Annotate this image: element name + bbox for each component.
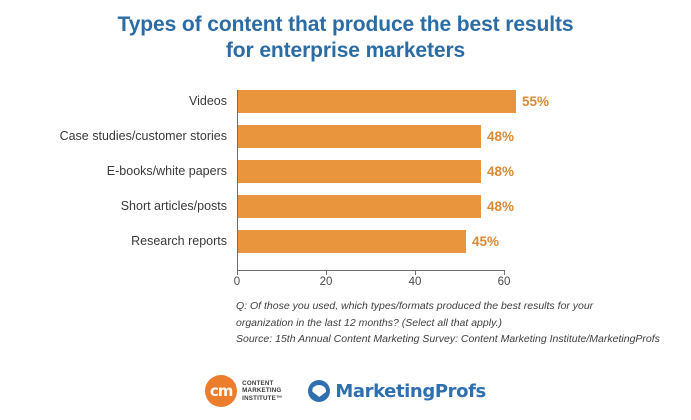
cmi-wordmark: CONTENT MARKETING INSTITUTE™: [242, 380, 282, 403]
bar-row: Videos 55%: [0, 90, 691, 113]
bar-row: Case studies/customer stories 48%: [0, 125, 691, 148]
chart-title-line-2: for enterprise marketers: [0, 38, 691, 64]
marketingprofs-wordmark: MarketingProfs: [335, 381, 486, 402]
bar-row: E-books/white papers 48%: [0, 160, 691, 183]
chart-title: Types of content that produce the best r…: [0, 12, 691, 64]
bar-value-label: 55%: [522, 90, 549, 113]
x-tick-mark: [237, 270, 238, 275]
footnote-question-line-1: Q: Of those you used, which types/format…: [236, 298, 686, 315]
x-tick-mark: [415, 270, 416, 275]
cmi-circle-icon: cm: [205, 375, 237, 407]
category-label: Short articles/posts: [0, 195, 227, 218]
footnote-source: Source: 15th Annual Content Marketing Su…: [236, 331, 686, 348]
logo-row: cm CONTENT MARKETING INSTITUTE™ Marketin…: [0, 370, 691, 412]
x-tick-mark: [326, 270, 327, 275]
bar-row: Short articles/posts 48%: [0, 195, 691, 218]
x-tick-mark: [504, 270, 505, 275]
x-tick-label: 20: [306, 276, 346, 288]
cmi-word-institute: INSTITUTE™: [242, 395, 282, 403]
category-label: Videos: [0, 90, 227, 113]
x-axis-ticks: 0 20 40 60: [0, 270, 691, 292]
bar-value-label: 48%: [487, 160, 514, 183]
chart-title-line-1: Types of content that produce the best r…: [0, 12, 691, 38]
marketingprofs-logo: MarketingProfs: [308, 380, 486, 402]
bar-videos: [238, 90, 516, 113]
bar-short-articles: [238, 195, 481, 218]
footnote: Q: Of those you used, which types/format…: [236, 298, 686, 348]
bar-research-reports: [238, 230, 466, 253]
category-label: Research reports: [0, 230, 227, 253]
bar-ebooks: [238, 160, 481, 183]
marketingprofs-globe-icon: [308, 380, 330, 402]
x-tick-label: 0: [217, 276, 257, 288]
bar-value-label: 45%: [472, 230, 499, 253]
chart-plot-area: Videos 55% Case studies/customer stories…: [0, 86, 691, 276]
x-tick-label: 60: [484, 276, 524, 288]
x-tick-label: 40: [395, 276, 435, 288]
cmi-word-content: CONTENT: [242, 380, 282, 388]
bar-case-studies: [238, 125, 481, 148]
bar-value-label: 48%: [487, 125, 514, 148]
cmi-word-marketing: MARKETING: [242, 387, 282, 395]
bar-value-label: 48%: [487, 195, 514, 218]
footnote-question-line-2: organization in the last 12 months? (Sel…: [236, 315, 686, 332]
category-label: E-books/white papers: [0, 160, 227, 183]
content-marketing-institute-logo: cm CONTENT MARKETING INSTITUTE™: [205, 375, 282, 407]
bar-row: Research reports 45%: [0, 230, 691, 253]
category-label: Case studies/customer stories: [0, 125, 227, 148]
